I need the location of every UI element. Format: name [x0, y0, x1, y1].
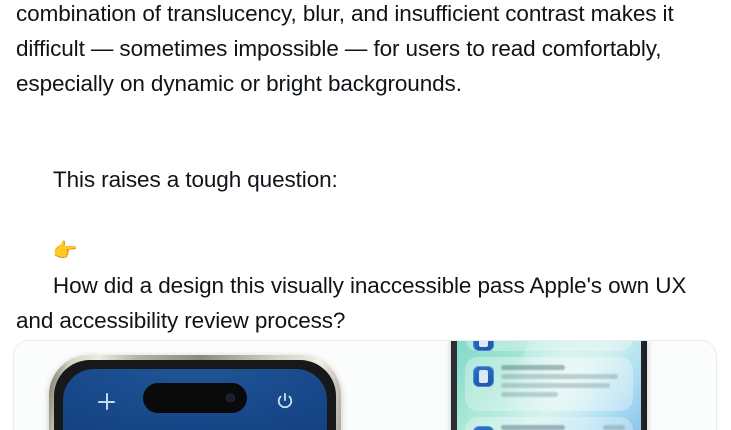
front-camera-icon [226, 394, 235, 403]
iphone-lock-screen-image [451, 340, 647, 430]
power-icon[interactable] [275, 391, 295, 411]
notification-title-line [501, 425, 565, 430]
phone-screen: Control [63, 369, 327, 430]
phone-screen-right [457, 340, 641, 430]
post-paragraph-2: This raises a tough question: 👉 How did … [16, 127, 716, 373]
notification-card[interactable] [465, 340, 633, 351]
media-card-inner: Control [14, 341, 716, 430]
post-question-text: How did a design this visually inaccessi… [16, 273, 692, 333]
dynamic-island [143, 383, 247, 413]
plus-icon[interactable] [98, 393, 115, 410]
post-screenshot-root: combination of translucency, blur, and i… [0, 0, 731, 430]
notification-card[interactable] [465, 357, 633, 411]
notification-body-line [501, 392, 558, 397]
phone-frame: Control [49, 355, 341, 430]
app-icon [473, 366, 494, 387]
app-icon [473, 340, 494, 351]
notification-text [501, 425, 625, 430]
phone-frame-right [451, 340, 647, 430]
notification-card[interactable] [465, 417, 633, 430]
notification-body-line [501, 374, 618, 379]
pointing-right-icon: 👉 [53, 238, 78, 262]
attached-media-card[interactable]: Control [13, 340, 717, 430]
post-paragraph-1: combination of translucency, blur, and i… [16, 0, 716, 101]
iphone-control-center-image: Control [49, 355, 341, 430]
notification-body-line [501, 383, 610, 388]
phone-bezel: Control [54, 360, 336, 430]
notification-title-line [501, 365, 565, 370]
app-icon [473, 426, 494, 430]
post-question-lead: This raises a tough question: [53, 167, 338, 192]
notification-text [501, 365, 625, 401]
